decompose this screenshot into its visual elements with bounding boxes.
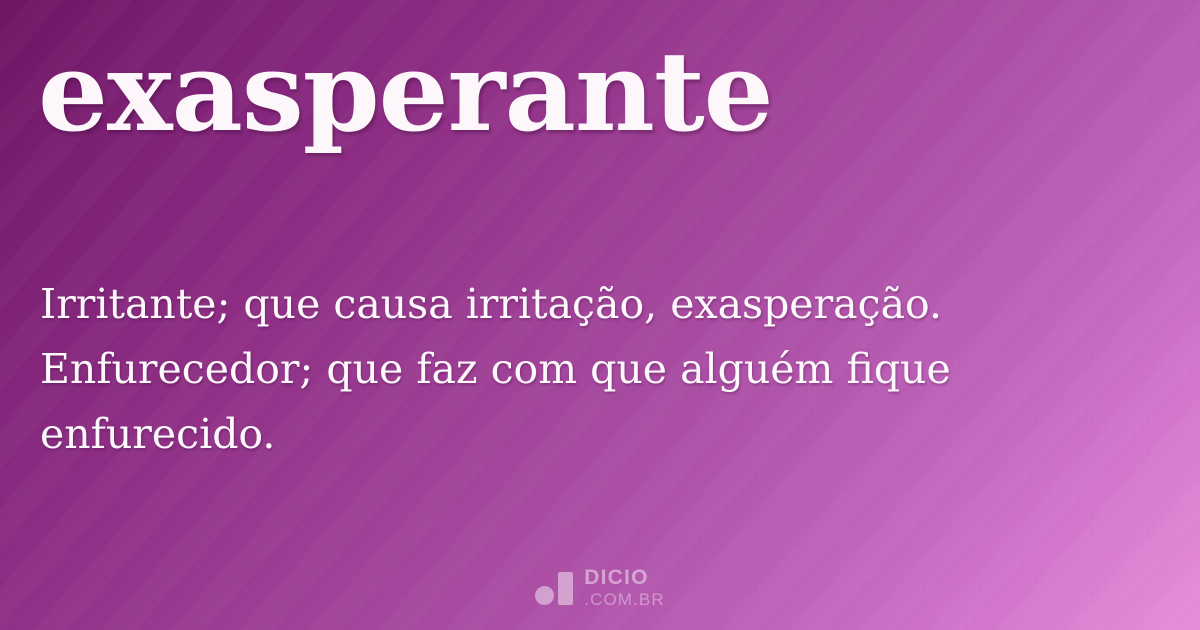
brand-name: DICIO — [584, 567, 664, 588]
card-content: exasperante Irritante; que causa irritaç… — [0, 0, 1200, 630]
page-title: exasperante — [38, 30, 1168, 153]
logo-bar-shape — [558, 572, 573, 605]
brand-logo: DICIO .COM.BR — [0, 567, 1200, 608]
definition-text: Irritante; que causa irritação, exaspera… — [40, 272, 1070, 467]
brand-wordmark: DICIO .COM.BR — [584, 567, 664, 608]
logo-circle-shape — [535, 586, 554, 605]
brand-tld: .COM.BR — [584, 591, 664, 608]
definition-card: exasperante Irritante; que causa irritaç… — [0, 0, 1200, 630]
dicio-logo-icon — [535, 571, 573, 605]
